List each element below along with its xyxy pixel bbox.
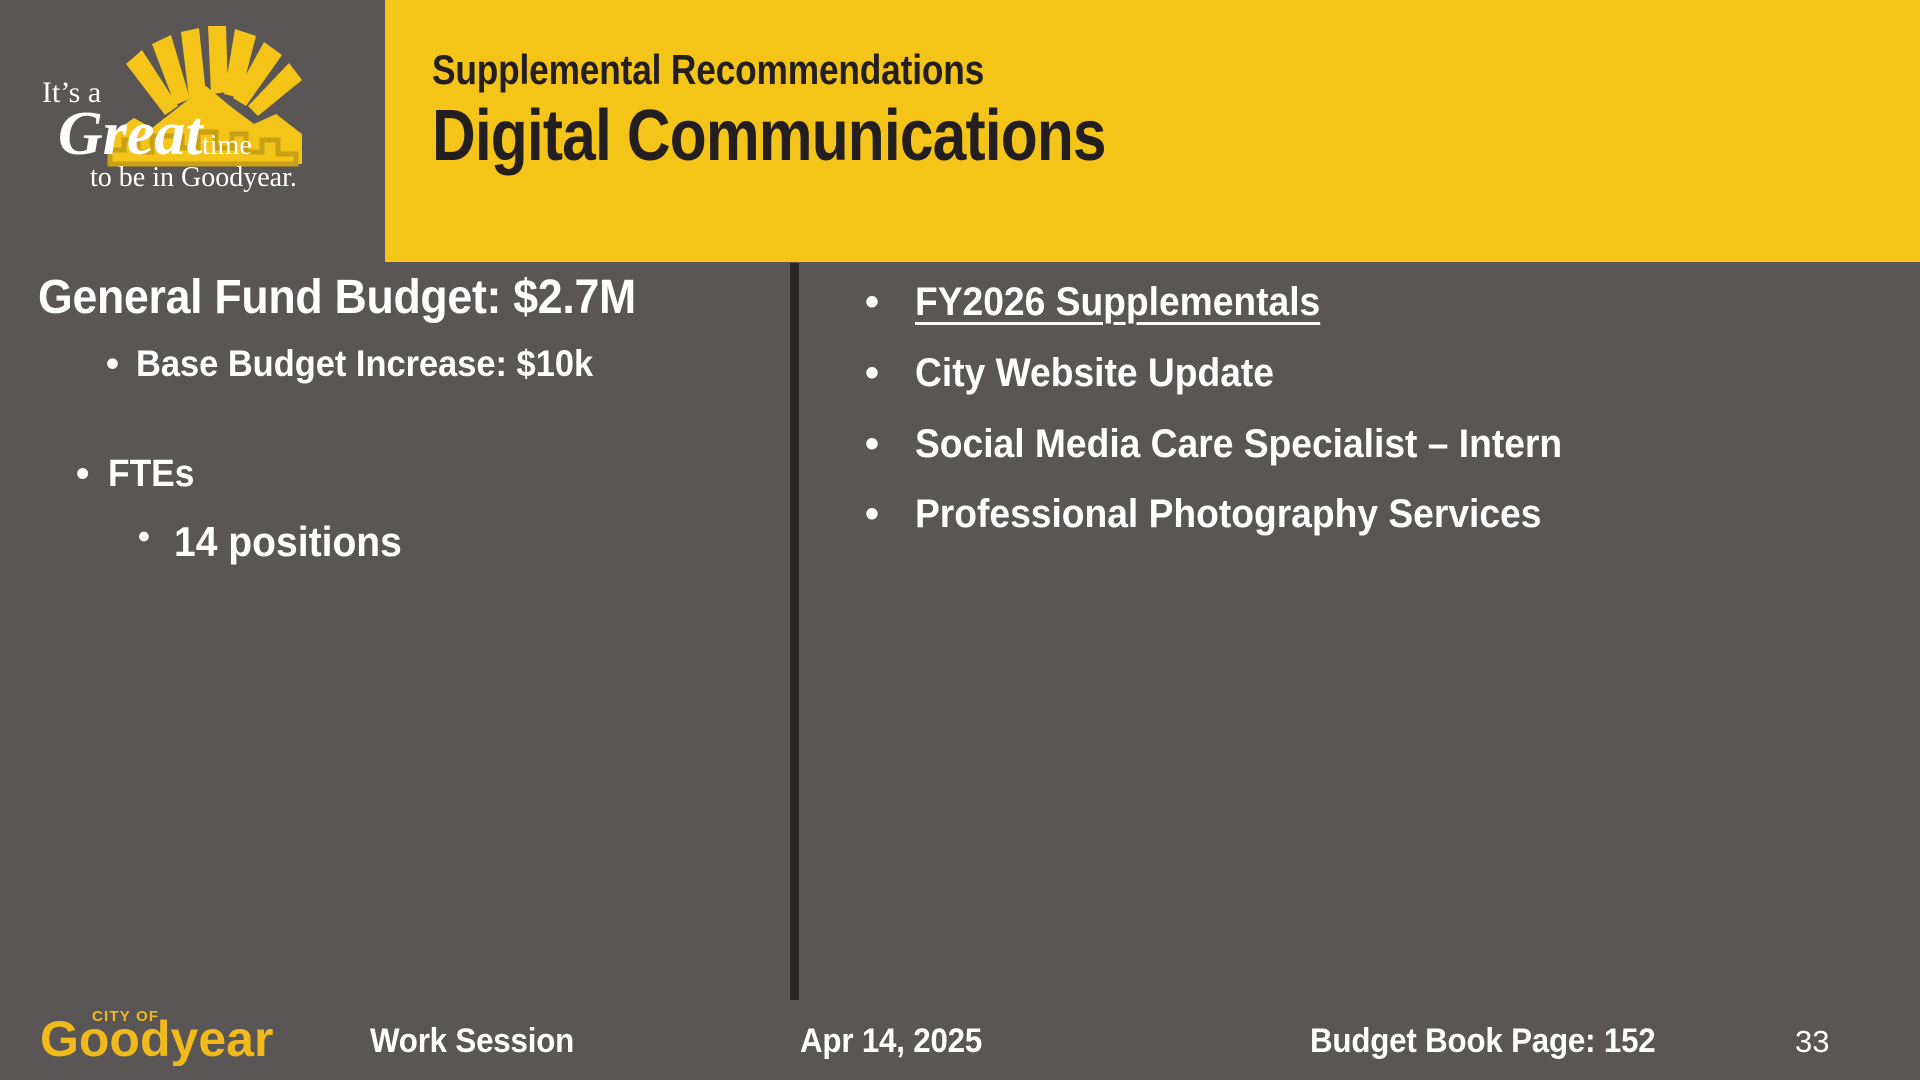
city-of-goodyear-wordmark-logo: Goodyear CITY OF (40, 1004, 290, 1066)
footer-date-label: Apr 14, 2025 (800, 1022, 982, 1061)
supplementals-list: • FY2026 Supplementals • City Website Up… (865, 278, 1885, 539)
list-item-label: Professional Photography Services (915, 490, 1541, 539)
left-bullet-list-ftes: • FTEs • 14 positions (38, 451, 758, 568)
list-item-city-website-update: • City Website Update (865, 349, 1885, 398)
page-title: Digital Communications (432, 98, 1322, 174)
right-content-column: • FY2026 Supplementals • City Website Up… (865, 278, 1885, 539)
footer-budget-book-page-label: Budget Book Page: 152 (1310, 1022, 1656, 1061)
list-item-ftes: • FTEs (38, 451, 758, 498)
list-item-base-budget-increase: • Base Budget Increase: $10k (38, 341, 758, 387)
list-item-label: FY2026 Supplementals (915, 278, 1320, 327)
footer-session-label: Work Session (370, 1022, 574, 1061)
list-item-social-media-care-specialist: • Social Media Care Specialist – Intern (865, 420, 1885, 469)
header-kicker: Supplemental Recommendations (432, 48, 1322, 92)
bullet-dot-icon: • (865, 349, 879, 398)
left-bullet-list: • Base Budget Increase: $10k (38, 341, 758, 387)
bullet-dot-icon: • (106, 341, 119, 387)
left-content-column: General Fund Budget: $2.7M • Base Budget… (38, 272, 758, 568)
list-item-label: Base Budget Increase: $10k (136, 341, 593, 387)
general-fund-budget-heading: General Fund Budget: $2.7M (38, 272, 708, 325)
header-text-block: Supplemental Recommendations Digital Com… (432, 48, 1492, 174)
list-item-14-positions: • 14 positions (38, 516, 758, 568)
svg-text:Great: Great (58, 100, 204, 168)
list-item-label: City Website Update (915, 349, 1274, 398)
goodyear-sunburst-logo: It’s a Great time to be in Goodyear. (30, 14, 350, 214)
list-spacer (38, 387, 758, 445)
list-item-professional-photography-services: • Professional Photography Services (865, 490, 1885, 539)
bullet-dot-icon: • (865, 278, 879, 327)
bullet-dot-icon: • (865, 490, 879, 539)
bullet-dot-icon: • (76, 451, 89, 498)
presentation-slide: It’s a Great time to be in Goodyear. Sup… (0, 0, 1920, 1080)
list-item-fy2026-supplementals: • FY2026 Supplementals (865, 278, 1885, 327)
svg-text:to be in Goodyear.: to be in Goodyear. (90, 162, 297, 193)
list-item-label: FTEs (108, 451, 194, 498)
list-item-label: 14 positions (174, 516, 402, 568)
bullet-dot-icon: • (865, 420, 879, 469)
svg-text:time: time (202, 130, 252, 161)
slide-number: 33 (1795, 1024, 1829, 1060)
footer-logo-eyebrow: CITY OF (92, 1008, 159, 1025)
bullet-dot-icon: • (138, 516, 150, 558)
column-divider (790, 263, 799, 1000)
list-item-label: Social Media Care Specialist – Intern (915, 420, 1562, 469)
